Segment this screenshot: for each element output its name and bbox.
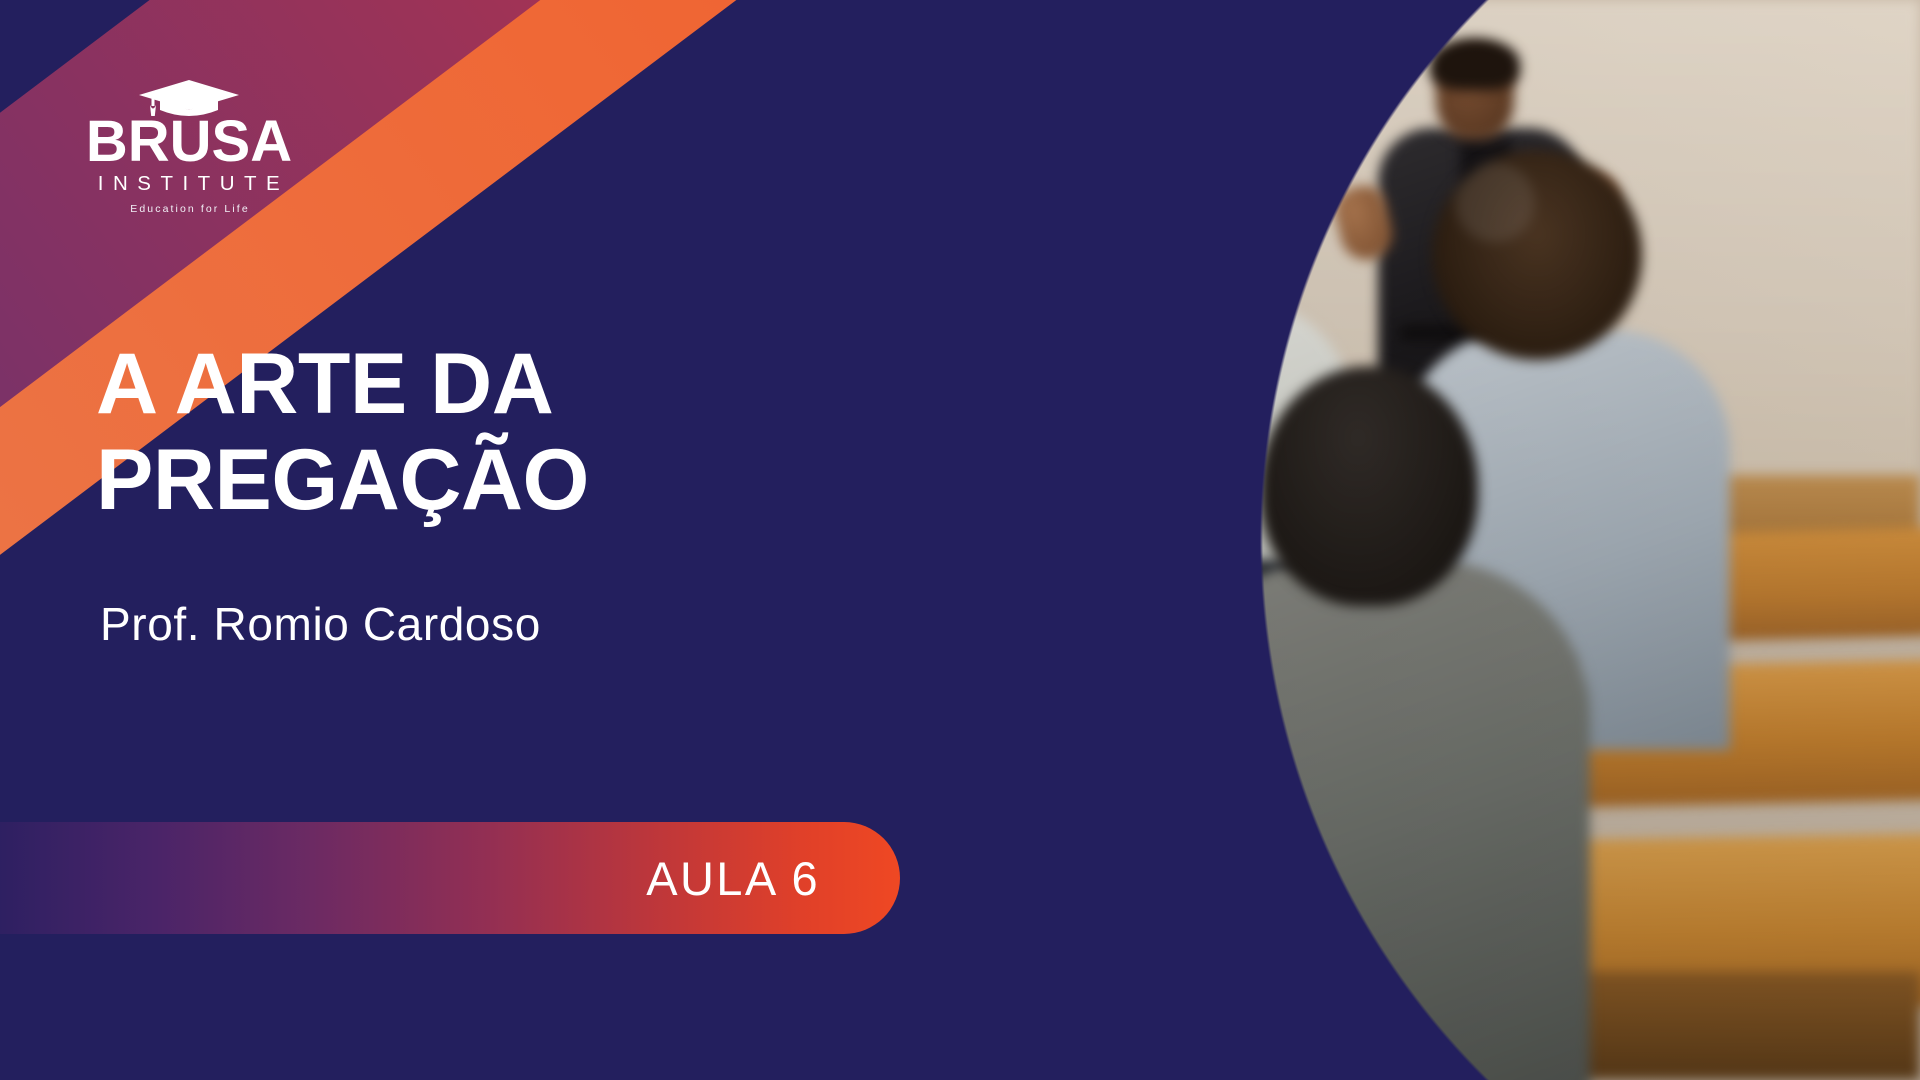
attendee-3-head — [1260, 366, 1478, 606]
slide-canvas: BRUSA INSTITUTE Education for Life A ART… — [0, 0, 1920, 1080]
logo-subtitle: INSTITUTE — [84, 172, 294, 196]
logo-tagline: Education for Life — [84, 203, 294, 215]
attendee-1-hair — [1078, 140, 1226, 258]
title-line-1: A ARTE DA — [96, 336, 856, 432]
attendee-3-sweater — [1170, 560, 1590, 1080]
preacher-hair — [1430, 38, 1520, 90]
church-photo-image — [1000, 0, 1920, 1080]
logo-wordmark: BRUSA — [84, 114, 294, 170]
hero-photo — [1000, 0, 1920, 1080]
lesson-badge-label: AULA 6 — [646, 851, 820, 906]
title-line-2: PREGAÇÃO — [96, 432, 856, 528]
graduation-cap-icon — [84, 78, 294, 120]
brand-logo[interactable]: BRUSA INSTITUTE Education for Life — [84, 78, 294, 215]
presenter-name: Prof. Romio Cardoso — [100, 597, 541, 651]
attendee-4-head — [1432, 150, 1642, 360]
page-title: A ARTE DA PREGAÇÃO — [96, 336, 856, 529]
lesson-badge: AULA 6 — [0, 822, 900, 934]
